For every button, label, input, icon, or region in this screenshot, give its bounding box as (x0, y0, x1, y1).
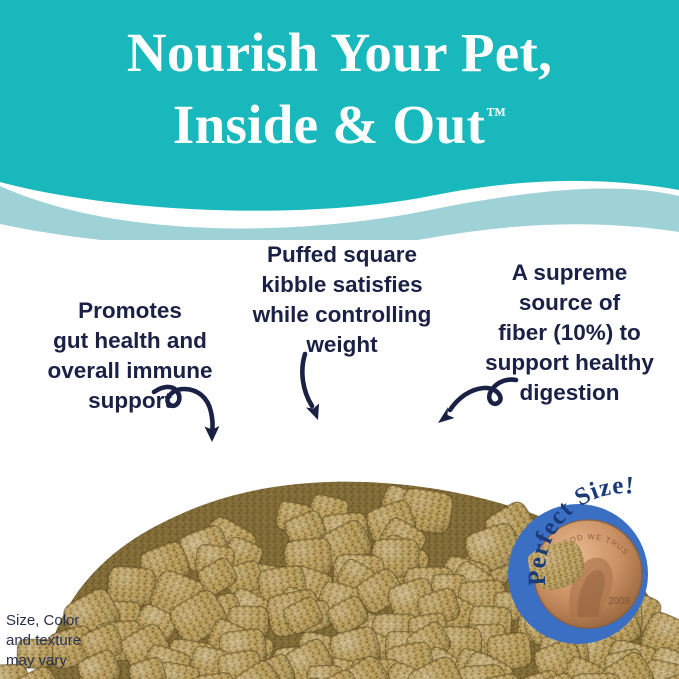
page-title-line-2-wrap: Inside & Out™ (0, 84, 679, 156)
coin-year: 2008 (608, 596, 631, 607)
trademark-symbol: ™ (486, 104, 506, 126)
arrow-fiber-icon (432, 376, 518, 438)
callout-fiber-line-1: A supreme (512, 260, 627, 285)
disclaimer-line-2: and texture (6, 631, 136, 651)
callout-fiber-line-4: support healthy (485, 350, 654, 375)
page-title: Nourish Your Pet, Inside & Out™ (0, 22, 679, 156)
page-title-line-2: Inside & Out (173, 94, 485, 155)
callout-gut-health-line-1: Promotes (78, 298, 182, 323)
disclaimer-line-1: Size, Color (6, 611, 136, 631)
disclaimer-text: Size, Color and texture may vary (6, 611, 136, 671)
disclaimer-line-3: may vary (6, 651, 136, 671)
product-infographic: Nourish Your Pet, Inside & Out™ (0, 0, 679, 679)
callout-kibble-line-2: kibble satisfies (261, 272, 422, 297)
callout-fiber-line-2: source of (519, 290, 620, 315)
callout-gut-health-line-3: overall immune (47, 358, 212, 383)
callout-fiber-line-5: digestion (520, 380, 620, 405)
arrow-kibble-icon (296, 352, 344, 424)
page-title-line-1: Nourish Your Pet, (0, 22, 679, 84)
arrow-gut-health-icon (152, 382, 242, 446)
callout-kibble-line-3: while controlling (253, 302, 432, 327)
callout-fiber-line-3: fiber (10%) to (498, 320, 641, 345)
perfect-size-badge: IN GOD WE TRUST 2008 Perfect Size! (500, 476, 679, 656)
callout-kibble-line-1: Puffed square (267, 242, 417, 267)
callout-gut-health-line-2: gut health and (53, 328, 207, 353)
callout-kibble: Puffed square kibble satisfies while con… (234, 240, 450, 360)
